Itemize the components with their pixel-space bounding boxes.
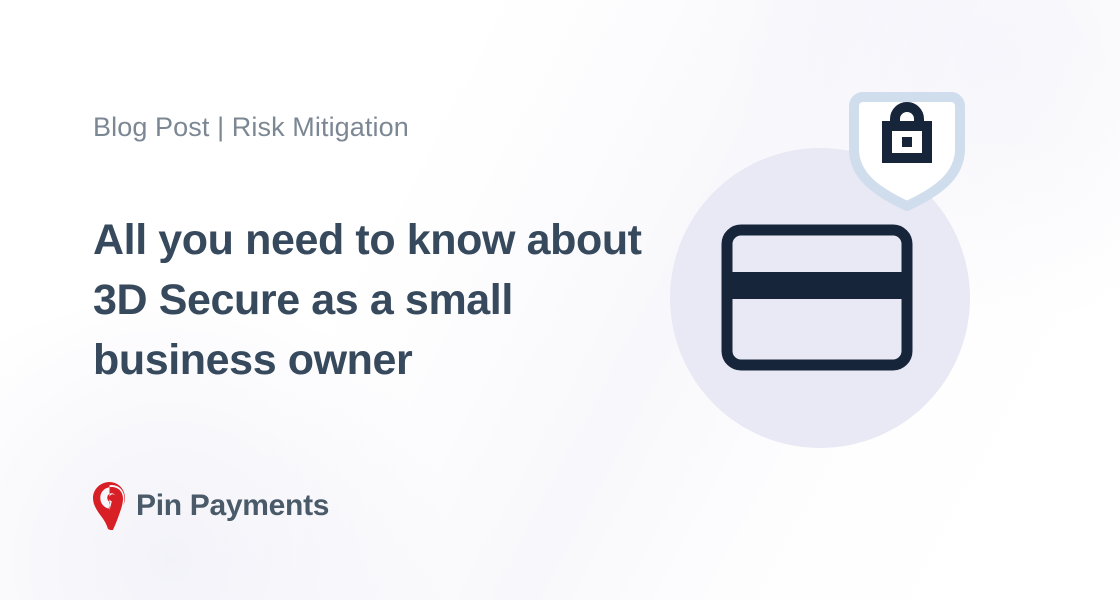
hero-illustration: [650, 70, 990, 470]
pin-drop-icon: [93, 482, 126, 530]
brand-logo[interactable]: Pin Payments: [93, 482, 329, 530]
brand-wordmark: Pin Payments: [136, 489, 329, 523]
page-title: All you need to know about 3D Secure as …: [93, 210, 653, 390]
kicker-label: Blog Post | Risk Mitigation: [93, 112, 409, 143]
text-column: Blog Post | Risk Mitigation All you need…: [93, 0, 673, 600]
